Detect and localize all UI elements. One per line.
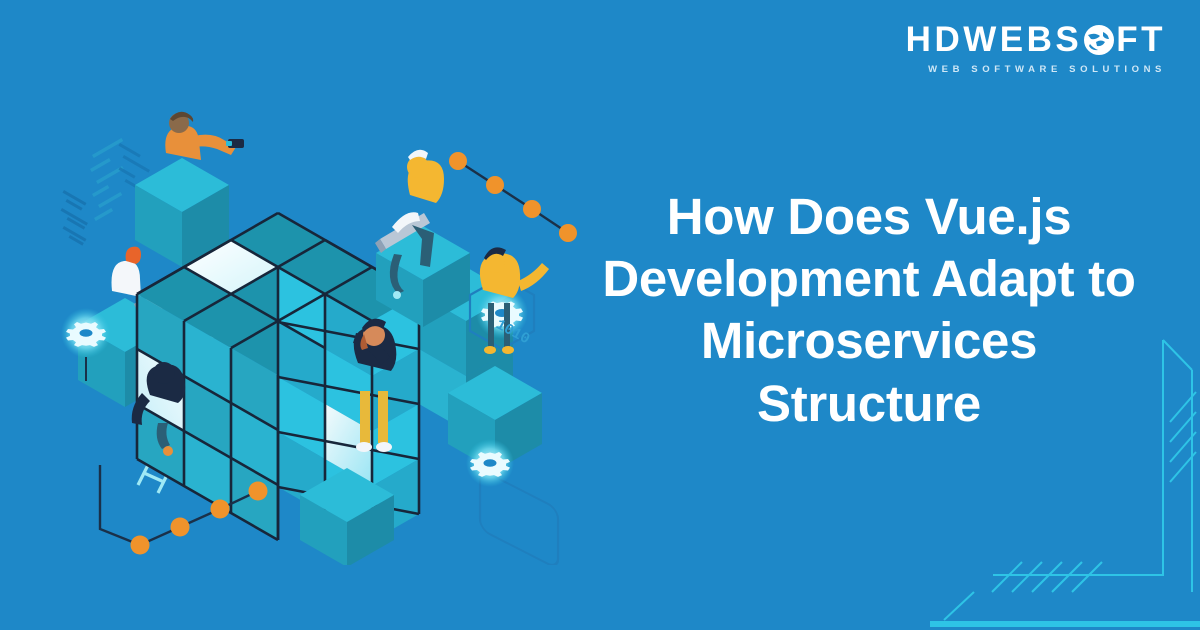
- logo-text-part2: FT: [1116, 22, 1166, 57]
- logo-tagline: WEB SOFTWARE SOLUTIONS: [906, 64, 1166, 75]
- title-line-2: Development Adapt to: [590, 248, 1148, 310]
- title-line-1: How Does Vue.js: [590, 186, 1148, 248]
- corner-bracket-frame: [930, 330, 1200, 630]
- orange-dot-chain-right: [449, 152, 577, 242]
- globe-icon: [1083, 24, 1115, 56]
- logo-wordmark: HDWEBS FT: [906, 22, 1166, 57]
- person-with-binoculars: [165, 112, 244, 160]
- isometric-microservices-cube-illustration: 1010: [40, 95, 600, 565]
- logo-text-part1: HDWEBS: [906, 22, 1083, 57]
- logo[interactable]: HDWEBS FT WEB SOFTWARE SOLUTIONS: [906, 22, 1166, 75]
- banner-root: 1010: [0, 0, 1200, 630]
- gear-icon-bottom: [466, 439, 514, 487]
- hatch-lines-bottom: [992, 562, 1102, 592]
